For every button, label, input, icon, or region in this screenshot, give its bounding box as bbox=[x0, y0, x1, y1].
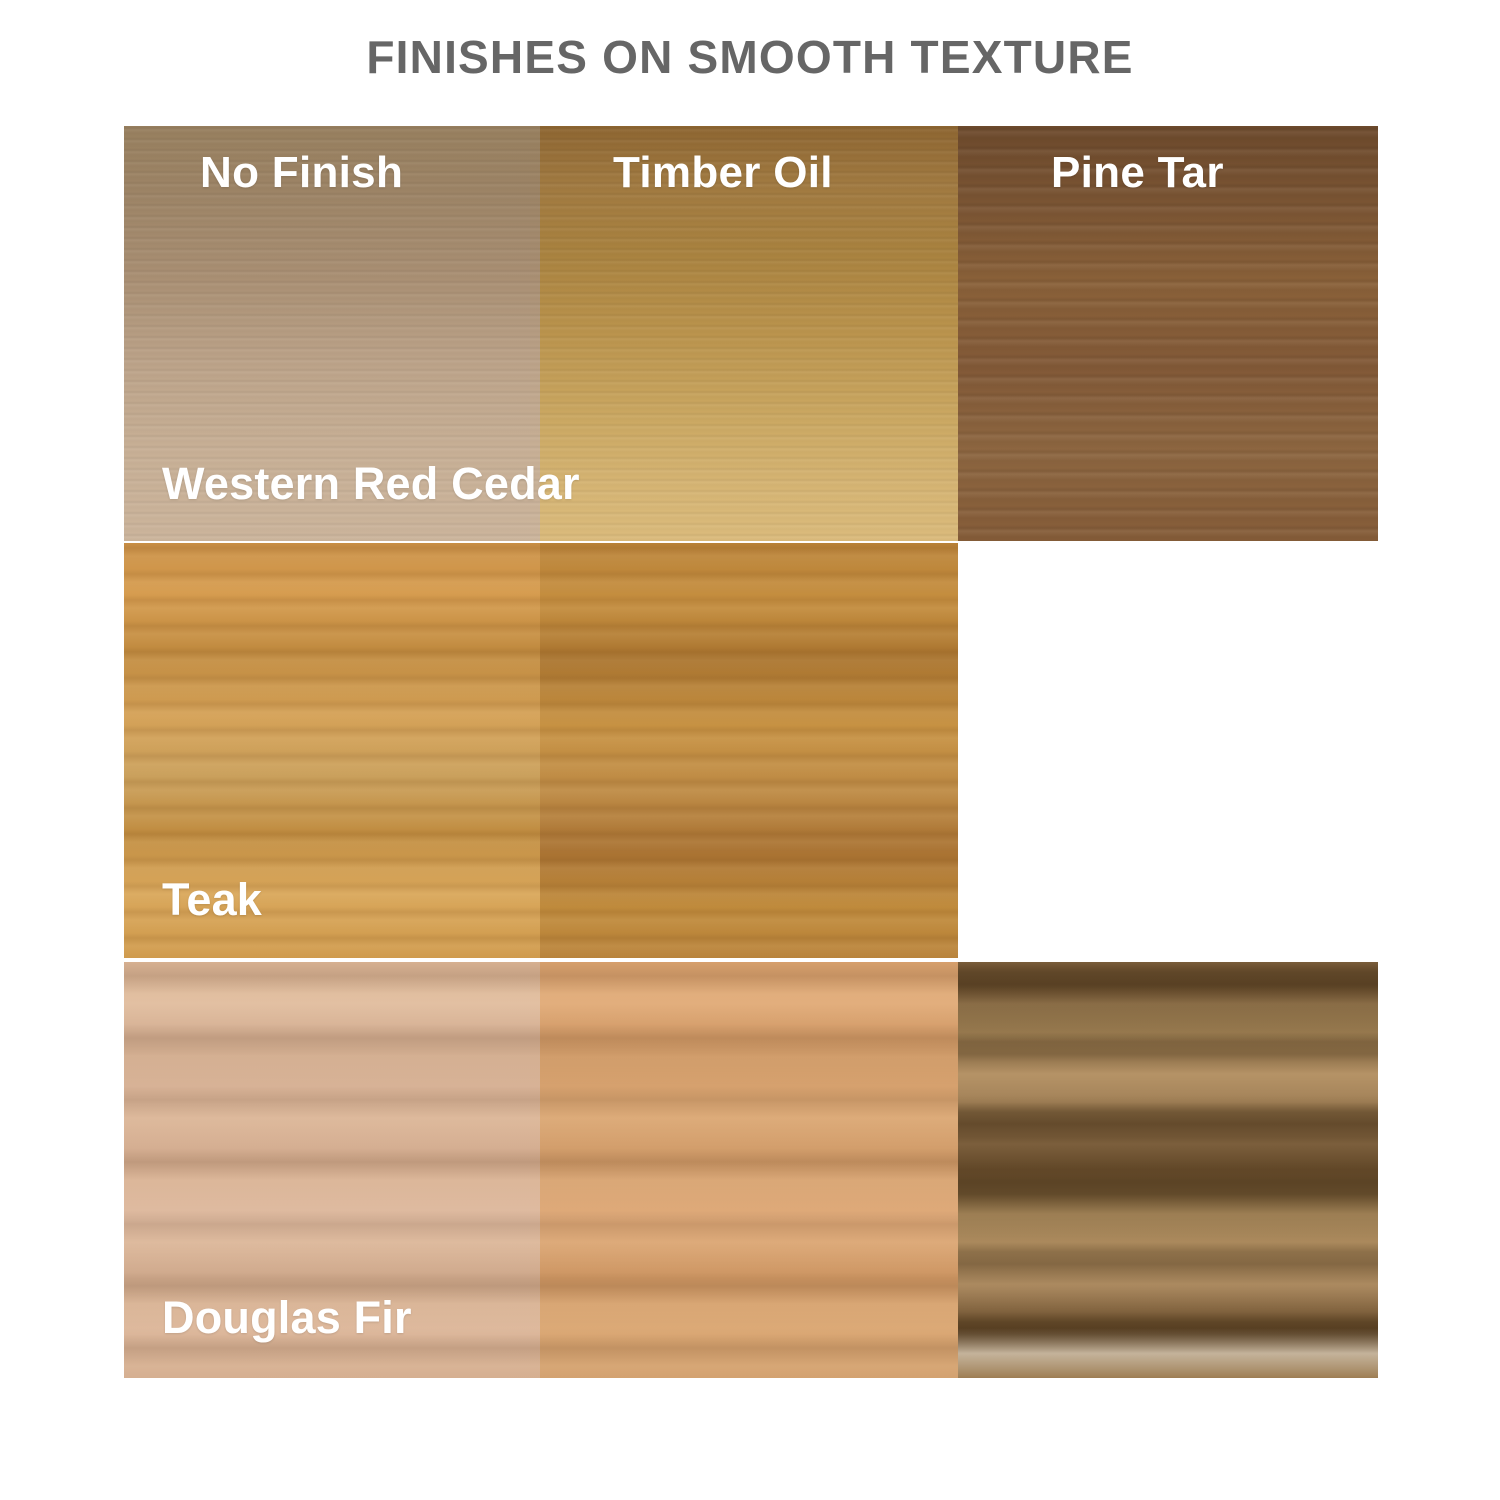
sample-cell-douglas-fir-timber-oil[interactable] bbox=[540, 962, 958, 1378]
column-label-timber-oil: Timber Oil bbox=[613, 148, 833, 198]
row-label-western-red-cedar: Western Red Cedar bbox=[162, 458, 580, 510]
row-label-teak: Teak bbox=[162, 874, 262, 926]
wood-grain-texture bbox=[540, 543, 958, 958]
wood-grain-texture bbox=[540, 962, 958, 1378]
page-title: FINISHES ON SMOOTH TEXTURE bbox=[0, 32, 1500, 83]
wood-grain-texture bbox=[958, 962, 1378, 1378]
sample-grid: No Finish Timber Oil Pine Tar Western Re… bbox=[124, 126, 1378, 1378]
sample-cell-douglas-fir-pine-tar[interactable] bbox=[958, 962, 1378, 1378]
column-label-pine-tar: Pine Tar bbox=[1051, 148, 1224, 198]
sample-cell-teak-pine-tar-empty bbox=[958, 543, 1378, 958]
column-label-no-finish: No Finish bbox=[200, 148, 403, 198]
row-label-douglas-fir: Douglas Fir bbox=[162, 1292, 412, 1344]
sample-cell-teak-timber-oil[interactable] bbox=[540, 543, 958, 958]
